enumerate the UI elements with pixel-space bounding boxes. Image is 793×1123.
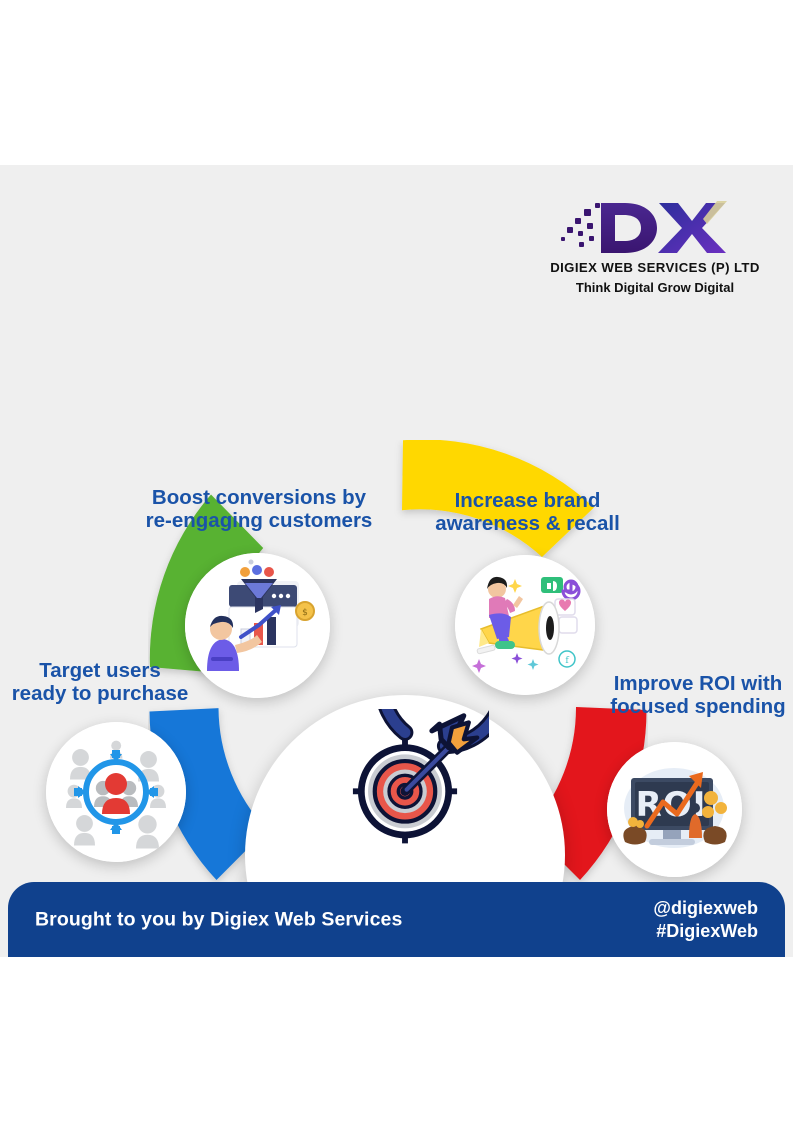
label-boost-line2: re-engaging customers: [120, 510, 398, 533]
footer-social-handles: @digiexweb #DigiexWeb: [653, 896, 758, 942]
logo-tagline: Think Digital Grow Digital: [531, 280, 779, 295]
label-boost-line1: Boost conversions by: [120, 487, 398, 510]
bubble-boost-conversions[interactable]: $: [185, 553, 330, 698]
footer-bar: Brought to you by Digiex Web Services @d…: [8, 882, 785, 957]
label-brand-line2: awareness & recall: [420, 513, 635, 536]
logo-company-name: DIGIEX WEB SERVICES (P) LTD: [531, 260, 779, 275]
label-brand-line1: Increase brand: [420, 490, 635, 513]
dx-logo-icon: [531, 197, 779, 259]
label-roi-line2: focused spending: [603, 696, 793, 719]
audience-crosshair-icon: [46, 722, 186, 862]
bubble-target-users[interactable]: [46, 722, 186, 862]
brand-logo: DIGIEX WEB SERVICES (P) LTD Think Digita…: [531, 197, 779, 295]
svg-text:$: $: [302, 608, 308, 618]
label-improve-roi: Improve ROI with focused spending: [603, 673, 793, 719]
label-roi-line1: Improve ROI with: [603, 673, 793, 696]
infographic-canvas: DIGIEX WEB SERVICES (P) LTD Think Digita…: [0, 165, 793, 957]
label-target-users: Target users ready to purchase: [0, 660, 200, 706]
target-arrow-icon: [321, 709, 489, 877]
footer-handle: @digiexweb: [653, 896, 758, 919]
footer-credit-text: Brought to you by Digiex Web Services: [35, 908, 402, 931]
label-target-line2: ready to purchase: [0, 683, 200, 706]
footer-hashtag: #DigiexWeb: [653, 920, 758, 943]
bubble-brand-awareness[interactable]: f: [455, 555, 595, 695]
conversion-funnel-chart-icon: $: [185, 553, 330, 698]
label-target-line1: Target users: [0, 660, 200, 683]
roi-monitor-money-icon: ROI: [607, 742, 742, 877]
bubble-improve-roi[interactable]: ROI: [607, 742, 742, 877]
label-brand-awareness: Increase brand awareness & recall: [420, 490, 635, 536]
label-boost-conversions: Boost conversions by re-engaging custome…: [120, 487, 398, 533]
megaphone-social-icon: f: [455, 555, 595, 695]
